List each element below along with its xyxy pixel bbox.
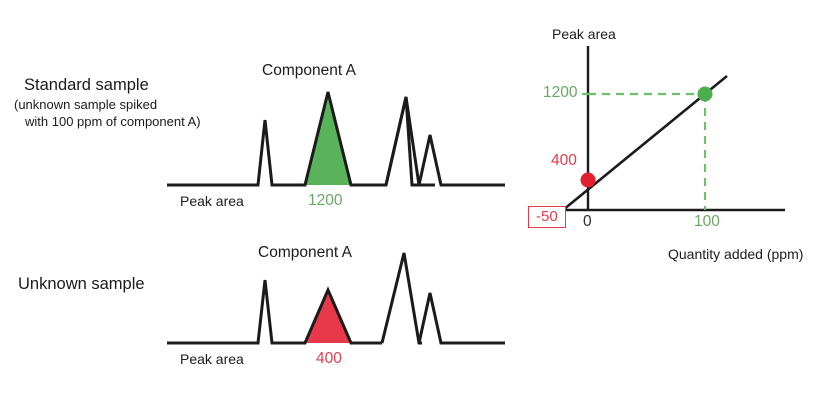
chromatogram-polyline-standard-a (167, 92, 435, 185)
plot-x-axis-title: Quantity added (ppm) (668, 246, 803, 264)
y-tick-1200-text: 1200 (543, 84, 577, 101)
figure-canvas: Standard sample (unknown sample spiked w… (0, 0, 829, 402)
chromatogram-polyline-unknown-a (167, 280, 382, 343)
data-point-standard-sample[interactable] (698, 87, 713, 102)
standard-sample-component-label: Component A (262, 62, 356, 80)
chromatogram-peak-4-unknown (419, 293, 505, 343)
peak-area-value-1200: 1200 (308, 192, 342, 209)
chromatogram-peak-3-unknown (382, 253, 422, 343)
chromatogram-trace-standard (160, 80, 510, 192)
x-tick-100: 100 (694, 213, 720, 231)
peak-area-text-standard: Peak area (180, 193, 244, 209)
x-intercept-callout: -50 (528, 208, 566, 226)
x-axis-title-text: Quantity added (ppm) (668, 246, 803, 262)
x-intercept-value-minus-50: -50 (528, 206, 566, 228)
standard-sample-chromatogram (160, 80, 510, 192)
chromatogram-trace-unknown (160, 248, 510, 353)
y-tick-400-text: 400 (551, 152, 577, 169)
y-tick-1200: 1200 (543, 84, 577, 102)
x-tick-100-text: 100 (694, 213, 720, 230)
calibration-plot (520, 40, 820, 220)
x-tick-origin: 0 (583, 213, 592, 231)
x-tick-origin-text: 0 (583, 213, 592, 230)
standard-peak-area-label: Peak area (180, 193, 244, 211)
peak-fill-component-a-unknown (305, 290, 351, 343)
unknown-peak-area-label: Peak area (180, 351, 244, 369)
peak-area-value-400: 400 (316, 350, 342, 367)
standard-peak-area-value: 1200 (308, 192, 342, 210)
unknown-sample-title: Unknown sample (18, 275, 145, 293)
y-tick-400: 400 (551, 152, 577, 170)
unknown-sample-caption: Unknown sample (18, 275, 145, 293)
unknown-peak-area-value: 400 (316, 350, 342, 368)
peak-fill-component-a-standard (305, 92, 351, 185)
calibration-plot-svg (520, 40, 820, 220)
unknown-sample-chromatogram (160, 248, 510, 353)
component-a-text-top: Component A (262, 62, 356, 80)
data-point-unknown-sample[interactable] (581, 173, 596, 188)
chromatogram-peak-4-standard (419, 135, 505, 185)
peak-area-text-unknown: Peak area (180, 351, 244, 367)
